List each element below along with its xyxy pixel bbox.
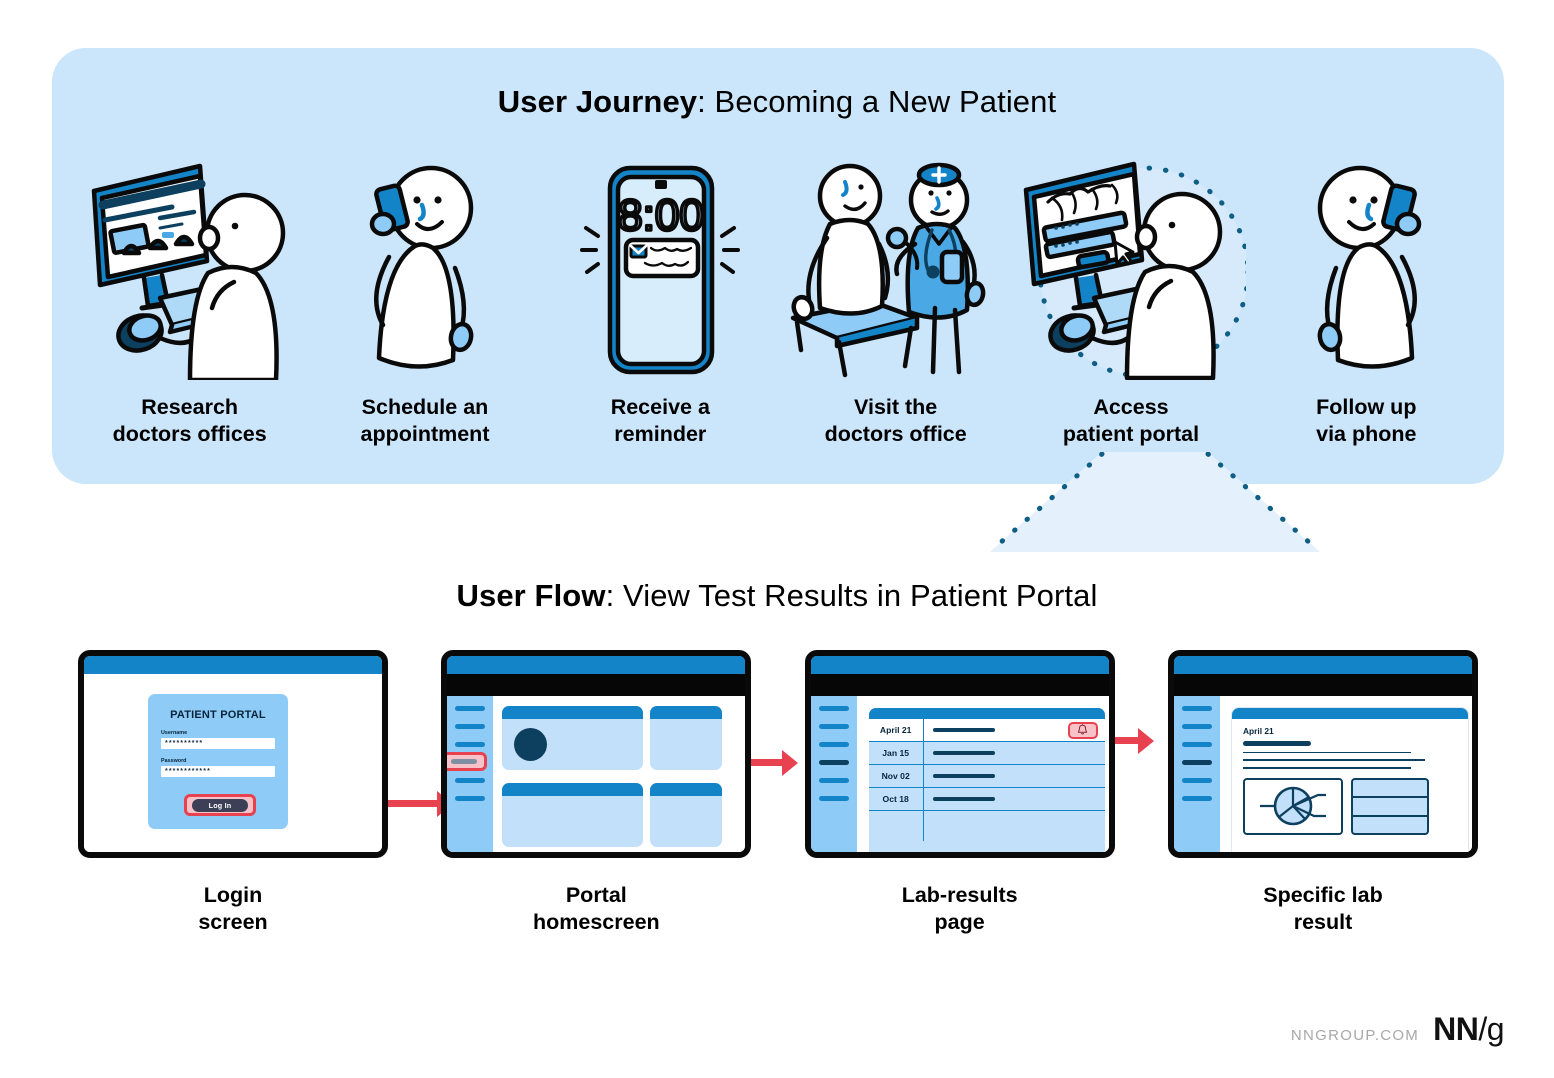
notification-highlight: [1068, 722, 1098, 739]
avatar: [514, 728, 547, 761]
journey-step-schedule: Schedule an appointment: [307, 150, 542, 448]
result-text-line: [1243, 767, 1411, 769]
sidebar-item-2[interactable]: [819, 724, 849, 729]
person-on-phone-icon: [359, 150, 491, 380]
lab-result-title-bar: [933, 797, 995, 802]
user-journey-title: User Journey: Becoming a New Patient: [0, 84, 1554, 120]
sidebar-item-6[interactable]: [455, 796, 485, 801]
flow-step-label: Specific lab result: [1263, 882, 1383, 936]
log-in-button[interactable]: Log In: [192, 799, 248, 812]
result-text-line: [1243, 759, 1425, 761]
card-header: [502, 706, 643, 719]
lab-result-date: Nov 02: [869, 765, 924, 787]
journey-step-label: Visit the doctors office: [825, 394, 967, 448]
screen-title-bar: [84, 656, 382, 674]
logo-main: NN: [1433, 1011, 1478, 1047]
sidebar-nav: [1174, 696, 1220, 852]
login-card-title: PATIENT PORTAL: [148, 694, 288, 721]
sidebar-item-2[interactable]: [455, 724, 485, 729]
sidebar-item-6[interactable]: [819, 796, 849, 801]
table-row[interactable]: Nov 02: [869, 765, 1105, 788]
screen-nav-bar: [1174, 674, 1472, 696]
dashboard-card-1[interactable]: [502, 706, 643, 770]
flow-step-login: PATIENT PORTAL Username ********** Passw…: [78, 650, 388, 936]
journey-step-label: Research doctors offices: [113, 394, 267, 448]
lab-results-content: April 21: [857, 696, 1109, 852]
person-on-phone-icon: [1300, 150, 1432, 380]
result-date-title: April 21: [1243, 726, 1468, 736]
login-button-highlight: Log In: [184, 794, 256, 816]
journey-step-label: Access patient portal: [1063, 394, 1199, 448]
dashboard-card-3[interactable]: [502, 783, 643, 847]
screen-title-bar: [1174, 656, 1472, 674]
flow-step-label: Lab-results page: [902, 882, 1018, 936]
login-card: PATIENT PORTAL Username ********** Passw…: [148, 694, 288, 829]
user-flow-title-lead: User Flow: [457, 578, 606, 613]
lab-result-date: April 21: [869, 719, 924, 741]
sidebar-item-6[interactable]: [1182, 796, 1212, 801]
lab-result-date: Oct 18: [869, 788, 924, 810]
dashboard-card-2[interactable]: [650, 706, 722, 770]
nng-logo: NN/g: [1433, 1011, 1504, 1048]
person-at-computer-icon: [82, 150, 297, 380]
user-journey-title-rest: : Becoming a New Patient: [697, 84, 1056, 119]
sidebar-item-4-highlight[interactable]: [441, 752, 487, 771]
result-table-panel: [1351, 778, 1429, 835]
sidebar-item-4: [451, 759, 477, 764]
patient-and-doctor-icon: [787, 150, 1005, 380]
flow-step-label: Portal homescreen: [533, 882, 660, 936]
table-row[interactable]: Oct 18: [869, 788, 1105, 811]
journey-steps-row: Research doctors offices: [72, 150, 1484, 450]
sidebar-item-3[interactable]: [819, 742, 849, 747]
table-divider: [1353, 796, 1427, 798]
pie-chart-icon: [1256, 783, 1330, 829]
table-header: [869, 708, 1105, 719]
table-divider: [1353, 815, 1427, 817]
lab-result-title-bar: [933, 774, 995, 779]
result-detail-panel: April 21: [1232, 708, 1468, 852]
journey-step-label: Schedule an appointment: [360, 394, 489, 448]
journey-step-reminder: 8:00 Receive a reminder: [543, 150, 778, 448]
logo-tail: g: [1487, 1011, 1504, 1047]
flow-step-lab-results: April 21: [805, 650, 1115, 936]
password-label: Password: [161, 758, 288, 764]
journey-step-label: Follow up via phone: [1316, 394, 1416, 448]
flow-step-specific-result: April 21: [1168, 650, 1478, 936]
username-input[interactable]: **********: [161, 738, 275, 749]
lab-result-date: Jan 15: [869, 742, 924, 764]
lab-results-mockup[interactable]: April 21: [805, 650, 1115, 858]
user-flow-title: User Flow: View Test Results in Patient …: [0, 578, 1554, 614]
screen-title-bar: [447, 656, 745, 674]
sidebar-item-3[interactable]: [1182, 742, 1212, 747]
screen-nav-bar: [811, 674, 1109, 696]
journey-step-label: Receive a reminder: [611, 394, 710, 448]
logo-slash: /: [1478, 1011, 1486, 1047]
homescreen-content: [493, 696, 745, 852]
specific-result-content: April 21: [1220, 696, 1472, 852]
sidebar-nav: [447, 696, 493, 852]
lab-result-title-bar: [933, 728, 995, 733]
card-header: [650, 706, 722, 719]
portal-homescreen-mockup[interactable]: [441, 650, 751, 858]
table-row[interactable]: Jan 15: [869, 742, 1105, 765]
sidebar-nav: [811, 696, 857, 852]
password-input[interactable]: ************: [161, 766, 275, 777]
journey-step-visit: Visit the doctors office: [778, 150, 1013, 448]
sidebar-item-5[interactable]: [819, 778, 849, 783]
lab-results-table: April 21: [869, 708, 1105, 852]
smartphone-notification-icon: 8:00: [574, 150, 746, 380]
person-at-patient-portal-icon: [1016, 150, 1246, 380]
empty-cell: [869, 811, 924, 841]
sidebar-item-4-active[interactable]: [819, 760, 849, 765]
bell-icon: [1077, 724, 1088, 736]
flow-step-homescreen: Portal homescreen: [441, 650, 751, 936]
login-screen-mockup[interactable]: PATIENT PORTAL Username ********** Passw…: [78, 650, 388, 858]
result-subtitle-bar: [1243, 741, 1311, 746]
journey-step-portal: Access patient portal: [1013, 150, 1248, 448]
specific-result-mockup[interactable]: April 21: [1168, 650, 1478, 858]
lab-result-title-bar: [933, 751, 995, 756]
result-text-line: [1243, 752, 1411, 754]
screen-title-bar: [811, 656, 1109, 674]
card-header: [650, 783, 722, 796]
sidebar-item-3[interactable]: [455, 742, 485, 747]
sidebar-item-5[interactable]: [1182, 778, 1212, 783]
svg-text:8:00: 8:00: [618, 191, 704, 240]
journey-step-research: Research doctors offices: [72, 150, 307, 448]
sidebar-item-1[interactable]: [455, 706, 485, 711]
screen-nav-bar: [447, 674, 745, 696]
footer: NNGROUP.COM NN/g: [1291, 1011, 1504, 1048]
flow-steps-row: PATIENT PORTAL Username ********** Passw…: [78, 650, 1478, 950]
journey-step-followup: Follow up via phone: [1249, 150, 1484, 448]
dashboard-card-4[interactable]: [650, 783, 722, 847]
diagram-canvas: User Journey: Becoming a New Patient: [0, 0, 1554, 1078]
sidebar-item-5[interactable]: [455, 778, 485, 783]
card-header: [502, 783, 643, 796]
table-row[interactable]: April 21: [869, 719, 1105, 742]
table-row-empty: [869, 811, 1105, 841]
username-label: Username: [161, 730, 288, 736]
panel-header: [1232, 708, 1468, 719]
user-flow-title-rest: : View Test Results in Patient Portal: [606, 578, 1098, 613]
sidebar-item-1[interactable]: [819, 706, 849, 711]
user-journey-title-lead: User Journey: [498, 84, 697, 119]
flow-step-label: Login screen: [198, 882, 267, 936]
result-chart-panel: [1243, 778, 1343, 835]
sidebar-item-1[interactable]: [1182, 706, 1212, 711]
sidebar-item-4-active[interactable]: [1182, 760, 1212, 765]
sidebar-item-2[interactable]: [1182, 724, 1212, 729]
footer-url: NNGROUP.COM: [1291, 1027, 1419, 1044]
connector-trapezoid: [990, 452, 1320, 552]
